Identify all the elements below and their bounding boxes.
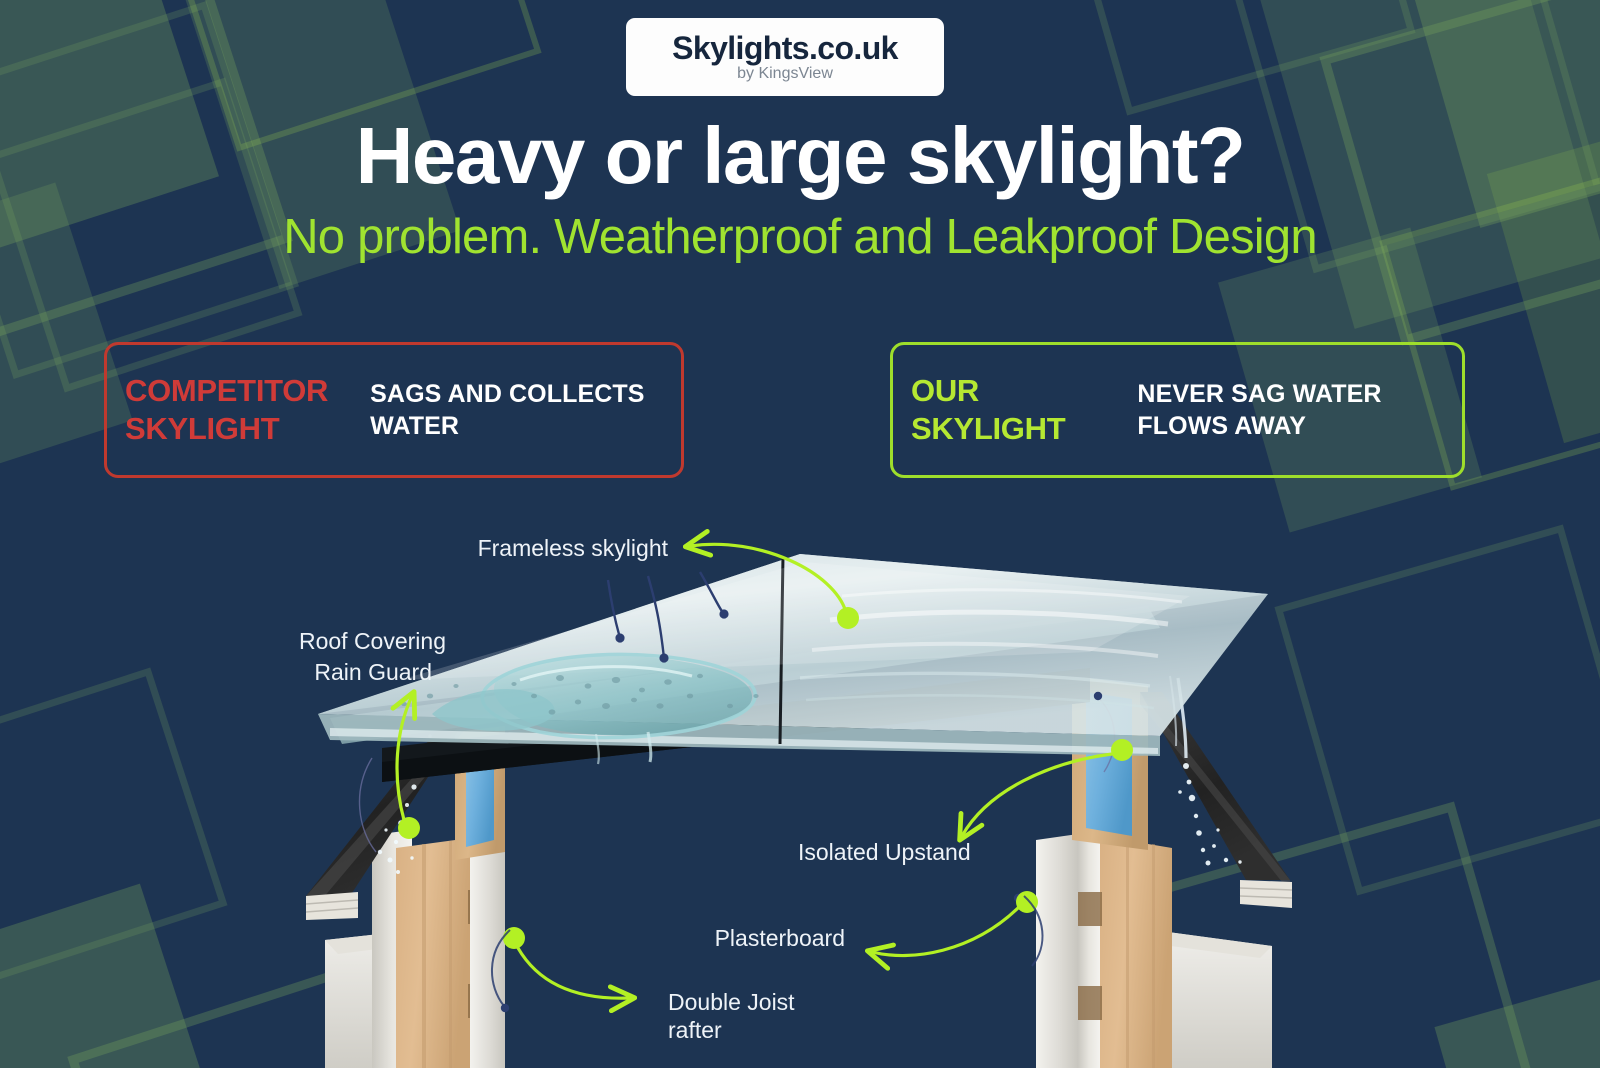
callout-label-plasterboard: Plasterboard	[715, 925, 845, 951]
diagram-svg: Frameless skylight Roof Covering Rain Gu…	[0, 500, 1600, 1068]
badge-competitor-skylight: COMPETITOR SKYLIGHT SAGS AND COLLECTS WA…	[104, 342, 684, 478]
brand-logo[interactable]: Skylights.co.uk by KingsView	[626, 18, 944, 96]
badge-competitor-what: SAGS AND COLLECTS WATER	[370, 378, 663, 442]
right-plasterboard	[1078, 834, 1100, 1068]
page-subtitle: No problem. Weatherproof and Leakproof D…	[0, 211, 1600, 265]
callout-label-isolated-upstand: Isolated Upstand	[798, 839, 971, 865]
left-osb-rafter	[396, 838, 470, 1068]
callout-dot-double-joist-rafter[interactable]	[503, 927, 525, 949]
callout-label-roof-covering-1: Roof Covering	[299, 628, 446, 654]
callout-dot-roof-covering[interactable]	[398, 817, 420, 839]
callout-dot-frameless-skylight[interactable]	[837, 607, 859, 629]
callout-plasterboard[interactable]: Plasterboard	[715, 891, 1038, 956]
callout-label-double-joist-2: rafter	[668, 1017, 722, 1043]
callout-label-frameless-skylight: Frameless skylight	[478, 535, 669, 561]
badge-our-what: NEVER SAG WATER FLOWS AWAY	[1137, 378, 1444, 442]
right-osb-grain	[1152, 844, 1155, 1068]
right-osb-grain	[1126, 840, 1129, 1068]
right-osb-notch	[1078, 892, 1102, 926]
callout-arrow-plasterboard	[872, 908, 1018, 956]
badge-our-skylight: OUR SKYLIGHT NEVER SAG WATER FLOWS AWAY	[890, 342, 1465, 478]
right-osb-rafter	[1100, 836, 1172, 1068]
right-roof-trim	[1240, 880, 1292, 908]
left-roof-trim	[306, 892, 358, 920]
skylight-cutaway-diagram: Frameless skylight Roof Covering Rain Gu…	[0, 500, 1600, 1068]
page-title: Heavy or large skylight?	[0, 114, 1600, 198]
left-plasterboard-inner	[470, 838, 505, 1068]
left-osb-grain	[449, 841, 452, 1068]
right-plasterboard-inner	[1036, 834, 1078, 1068]
badge-competitor-who: COMPETITOR SKYLIGHT	[125, 372, 370, 449]
callout-arrow-double-joist-rafter	[518, 948, 630, 998]
left-osb-grain	[422, 844, 426, 1068]
logo-name: Skylights.co.uk	[672, 32, 898, 64]
right-osb-notch	[1078, 986, 1102, 1020]
callout-label-roof-covering-2: Rain Guard	[314, 659, 432, 685]
callout-dot-isolated-upstand[interactable]	[1111, 739, 1133, 761]
callout-label-double-joist-1: Double Joist	[668, 989, 795, 1015]
badge-our-who: OUR SKYLIGHT	[911, 372, 1137, 449]
logo-byline: by KingsView	[737, 66, 833, 82]
